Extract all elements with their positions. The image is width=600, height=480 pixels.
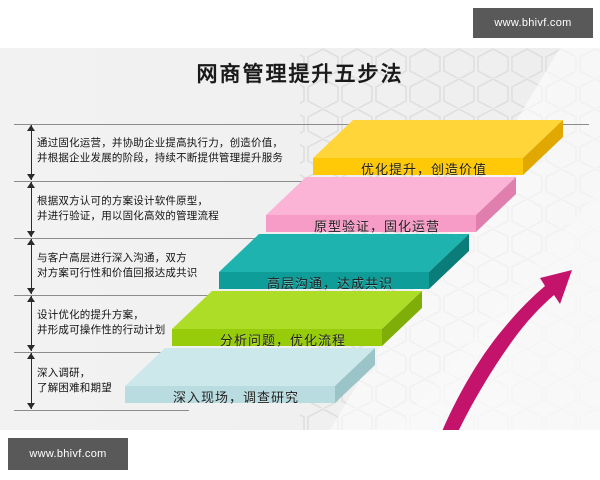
slide-body: 网商管理提升五步法 <box>0 48 600 430</box>
step-label-1: 深入现场，调查研究 <box>173 387 299 406</box>
step-label-3: 高层沟通，达成共识 <box>267 273 393 292</box>
step-label-5: 优化提升，创造价值 <box>361 159 487 178</box>
watermark-top-right: www.bhivf.com <box>473 8 593 38</box>
step-block-5[interactable]: 优化提升，创造价值 <box>313 120 563 190</box>
watermark-bottom-left: www.bhivf.com <box>8 438 128 470</box>
step-label-2: 分析问题，优化流程 <box>220 330 346 349</box>
growth-arrow <box>400 198 590 430</box>
slide-root: www.bhivf.com 网商管理提升五步法 <box>0 0 600 480</box>
